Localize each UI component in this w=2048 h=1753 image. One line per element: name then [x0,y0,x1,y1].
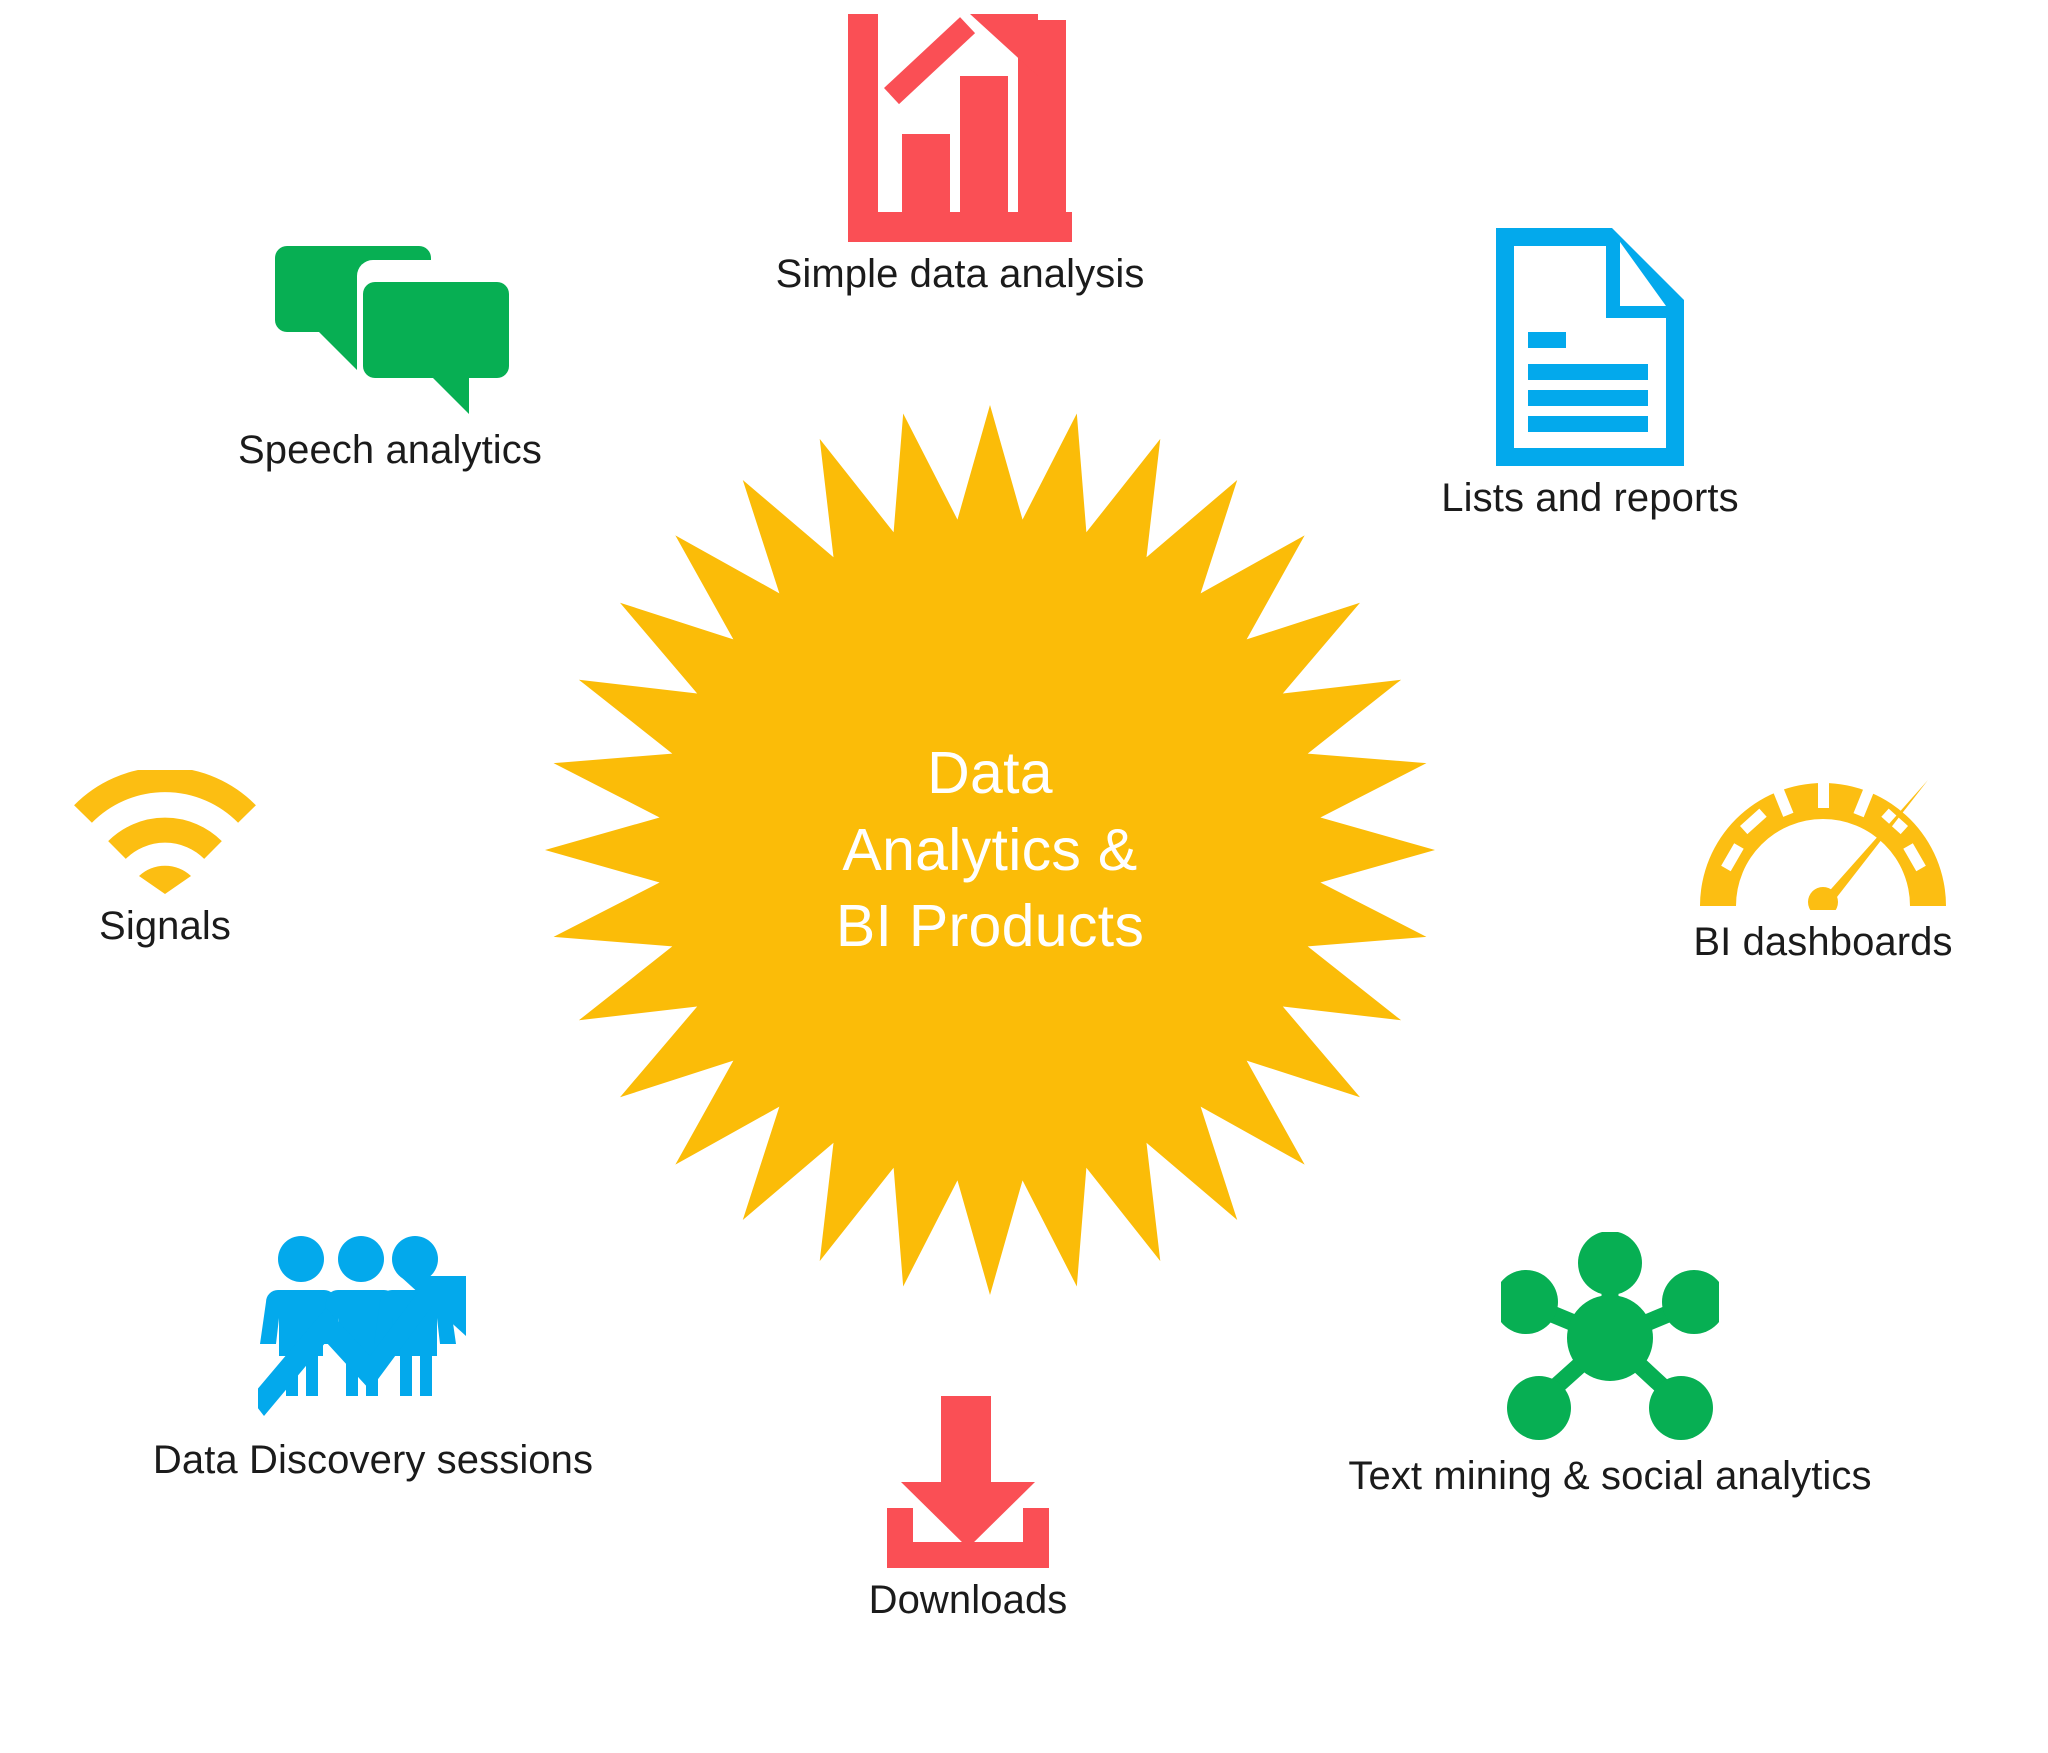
node-label-simple-data-analysis: Simple data analysis [776,252,1145,297]
document-lines-icon [1496,228,1684,466]
chat-bubbles-icon [271,246,509,418]
node-label-lists-and-reports: Lists and reports [1441,476,1738,521]
node-label-data-discovery: Data Discovery sessions [153,1438,593,1483]
node-simple-data-analysis[interactable]: Simple data analysis [704,14,1216,297]
node-bi-dashboards[interactable]: BI dashboards [1598,760,2048,965]
node-speech-analytics[interactable]: Speech analytics [140,246,640,473]
starburst-shape [540,400,1440,1300]
people-trend-arrow-icon [258,1232,488,1428]
bar-chart-growth-icon [848,14,1072,242]
node-label-text-mining: Text mining & social analytics [1348,1454,1871,1499]
download-arrow-tray-icon [873,1396,1063,1568]
node-text-mining-social-analytics[interactable]: Text mining & social analytics [1300,1232,1920,1499]
node-lists-and-reports[interactable]: Lists and reports [1334,228,1846,521]
node-label-signals: Signals [99,904,231,949]
node-data-discovery-sessions[interactable]: Data Discovery sessions [88,1232,658,1483]
wifi-signal-icon [69,770,261,894]
center-starburst: Data Analytics & BI Products [540,400,1440,1300]
gauge-speedometer-icon [1692,760,1954,910]
diagram-canvas: Data Analytics & BI Products Simple data… [0,0,2048,1753]
node-label-speech-analytics: Speech analytics [238,428,542,473]
node-signals[interactable]: Signals [0,770,330,949]
node-label-bi-dashboards: BI dashboards [1693,920,1952,965]
node-downloads[interactable]: Downloads [712,1396,1224,1623]
network-hub-icon [1501,1232,1719,1444]
node-label-downloads: Downloads [869,1578,1068,1623]
